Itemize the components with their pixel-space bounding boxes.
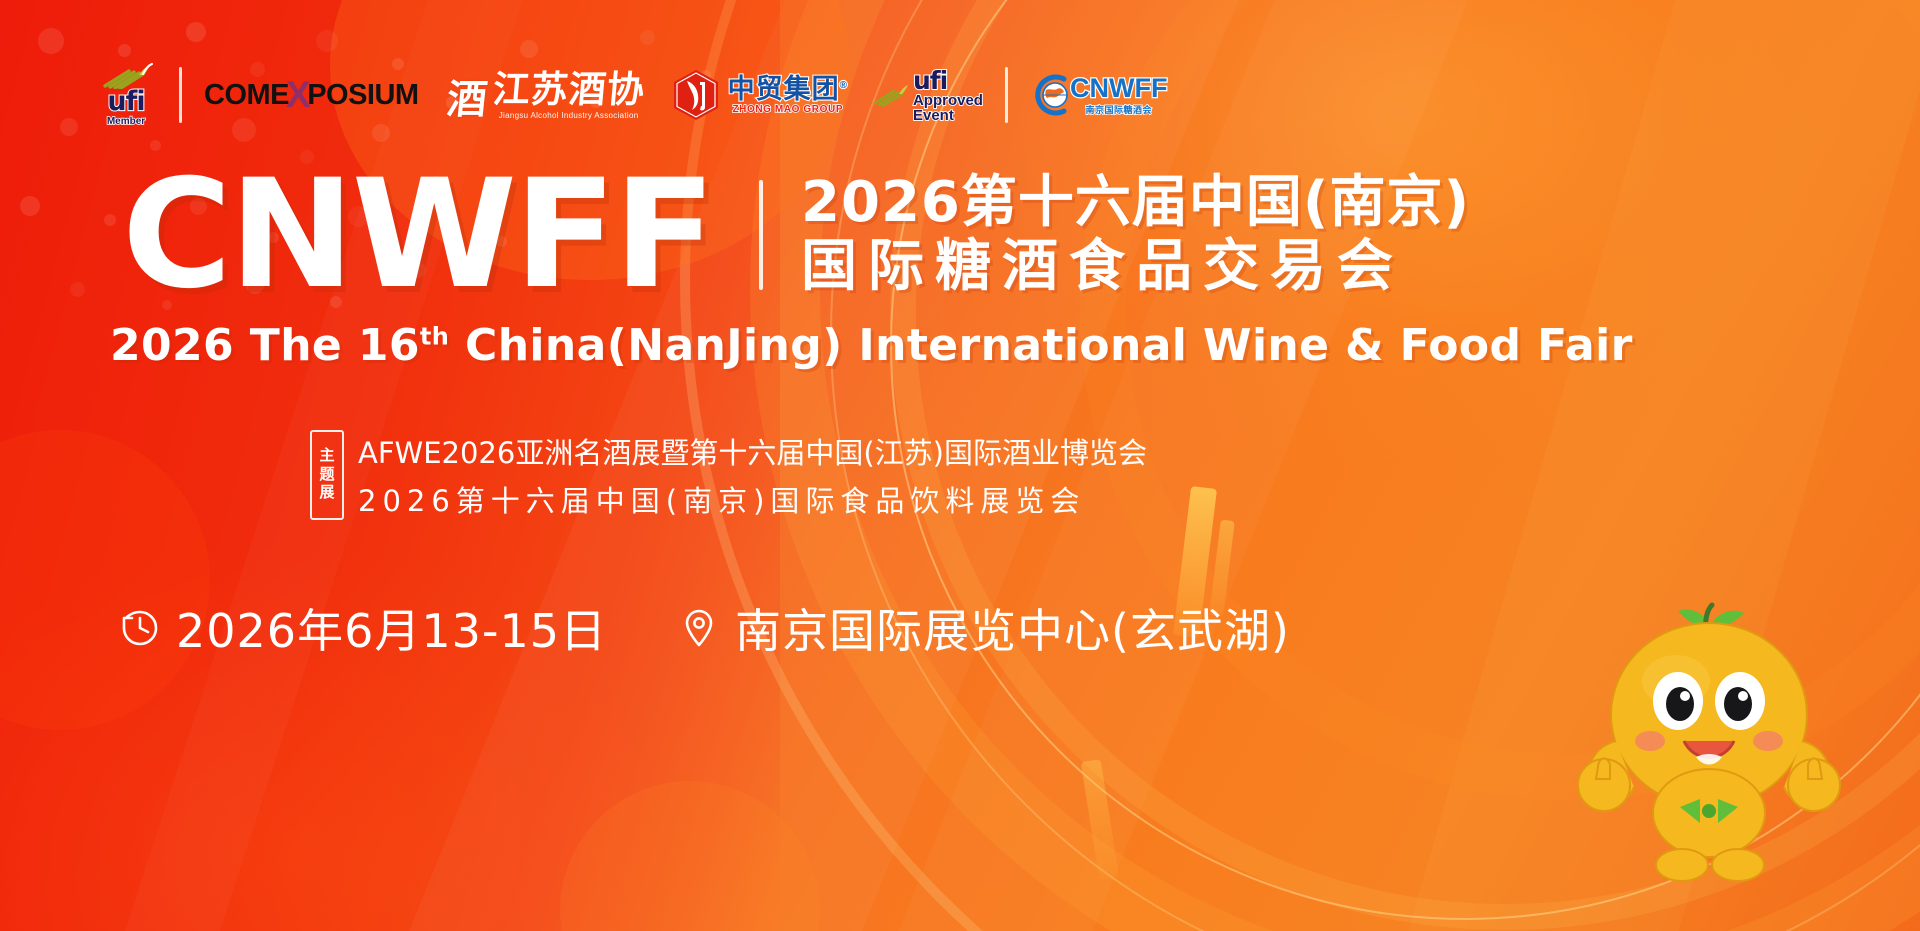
background-dot [38, 28, 64, 54]
jiangsu-alcohol-association-logo: 酒 江苏酒协 Jiangsu Alcohol Industry Associat… [447, 56, 645, 134]
title-divider [759, 180, 763, 290]
cnwff-logo-sub: 南京国际糖酒会 [1085, 103, 1152, 116]
background-dot [70, 282, 85, 297]
event-venue-item: 南京国际展览中心(玄武湖) [677, 595, 1290, 661]
ufi-approved-line1: Approved [913, 93, 983, 108]
event-date-item: 2026年6月13-15日 [118, 595, 607, 661]
comexposium-part2: POSIUM [307, 79, 418, 112]
logo-divider [179, 67, 182, 123]
background-dot [20, 196, 40, 216]
event-date-text: 2026年6月13-15日 [176, 595, 607, 661]
comexposium-part1: COME [204, 79, 289, 112]
ufi-approved-wordmark: ufi [913, 68, 983, 93]
chinese-title-line2: 国际糖酒食品交易会 [801, 237, 1470, 297]
english-subtitle-rest: China(NanJing) International Wine & Food… [449, 320, 1632, 371]
chinese-title: 2026第十六届中国(南京) 国际糖酒食品交易会 [801, 173, 1470, 297]
main-title-row: CNWFF 2026第十六届中国(南京) 国际糖酒食品交易会 [122, 160, 1470, 310]
ufi-member-logo: ufi Member [95, 56, 157, 134]
background-dot [640, 30, 655, 45]
background-dot [186, 22, 206, 42]
theme-exhibition-line2: 2026第十六届中国(南京)国际食品饮料展览会 [358, 478, 1147, 520]
zhongmao-mark-icon [671, 69, 721, 121]
ufi-approved-line2: Event [913, 108, 983, 123]
zhongmao-group-logo: 中贸集团® ZHONG MAO GROUP [671, 56, 848, 134]
theme-badge: 主 题 展 [310, 430, 344, 520]
english-subtitle-prefix: 2026 The 16 [110, 320, 420, 371]
theme-exhibition-block: 主 题 展 AFWE2026亚洲名酒展暨第十六届中国(江苏)国际酒业博览会 20… [310, 430, 1147, 520]
brand-title: CNWFF [122, 160, 713, 310]
event-venue-text: 南京国际展览中心(玄武湖) [735, 595, 1290, 661]
theme-badge-char-3: 展 [319, 484, 334, 503]
jiangsu-name-cn: 江苏酒协 [491, 71, 646, 108]
zhongmao-name-cn: 中贸集团® [728, 75, 848, 103]
orange-fruit-mascot [1572, 589, 1842, 889]
chinese-title-line1: 2026第十六届中国(南京) [801, 173, 1470, 233]
theme-badge-char-2: 题 [319, 466, 334, 485]
english-subtitle: 2026 The 16th China(NanJing) Internation… [110, 320, 1500, 371]
english-subtitle-ordinal: th [420, 322, 449, 350]
background-dot [104, 214, 116, 226]
partner-logo-strip: ufi Member COME X POSIUM 酒 江苏酒协 Jiangsu … [95, 56, 1167, 134]
background-dot [316, 30, 338, 52]
zhongmao-name-en: ZHONG MAO GROUP [732, 104, 843, 115]
comexposium-logo: COME X POSIUM [204, 56, 419, 134]
theme-badge-char-1: 主 [319, 447, 334, 466]
location-pin-icon [677, 606, 721, 650]
cnwff-small-logo: CNWFF 南京国际糖酒会 [1030, 56, 1167, 134]
ufi-approved-wing-icon [872, 83, 910, 107]
ufi-member-label: Member [107, 116, 145, 127]
jiangsu-name-en: Jiangsu Alcohol Industry Association [499, 111, 639, 120]
clock-icon [118, 606, 162, 650]
theme-exhibition-line1: AFWE2026亚洲名酒展暨第十六届中国(江苏)国际酒业博览会 [358, 430, 1147, 472]
logo-divider [1005, 67, 1008, 123]
cnwff-logo-word: CNWFF [1070, 75, 1167, 102]
ufi-wordmark: ufi [107, 89, 144, 115]
ufi-approved-event-logo: ufi Approved Event [872, 56, 983, 134]
jiangsu-seal-character: 酒 [444, 80, 488, 120]
event-info-row: 2026年6月13-15日 南京国际展览中心(玄武湖) [118, 595, 1290, 661]
background-dot [60, 118, 78, 136]
